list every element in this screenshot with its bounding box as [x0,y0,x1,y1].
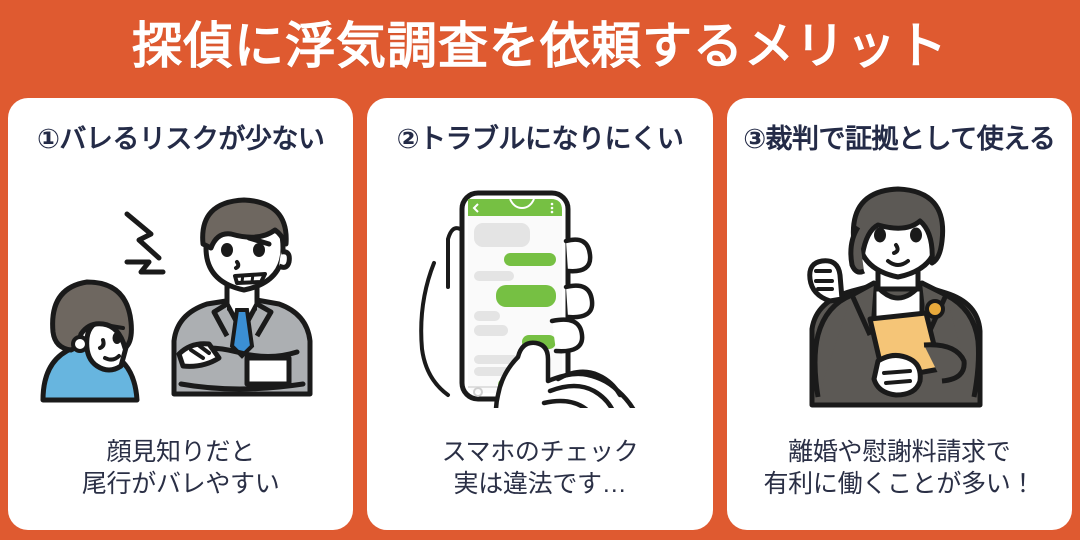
lawyer-figure [810,189,980,405]
card-3: ③裁判で証拠として使える [727,98,1072,530]
page-title: 探偵に浮気調査を依頼するメリット [132,21,948,71]
angry-man-and-woman-illustration [31,186,331,406]
title-bar: 探偵に浮気調査を依頼するメリット [0,0,1080,92]
card-3-heading: ③裁判で証拠として使える [743,126,1055,153]
card-2-heading: ②トラブルになりにくい [397,126,684,153]
female-lawyer-with-folder-illustration [774,183,1024,408]
cards-row: ①バレるリスクが少ない [8,98,1072,530]
card-2-illustration-wrap [367,153,712,436]
card-3-caption: 離婚や慰謝料請求で 有利に働くことが多い！ [763,436,1035,500]
poster-root: 探偵に浮気調査を依頼するメリット ①バレるリスクが少ない [0,0,1080,540]
card-1: ①バレるリスクが少ない [8,98,353,530]
woman-figure [43,282,137,400]
card-2: ②トラブルになりにくい [367,98,712,530]
card-1-caption: 顔見知りだと 尾行がバレやすい [82,436,280,500]
card-3-illustration-wrap [727,153,1072,436]
card-1-illustration-wrap [8,153,353,436]
man-figure [174,200,310,394]
card-1-heading: ①バレるリスクが少ない [37,126,324,153]
hand-holding-smartphone-chat-illustration [400,183,680,408]
card-2-caption: スマホのチェック 実は違法です… [442,436,639,500]
